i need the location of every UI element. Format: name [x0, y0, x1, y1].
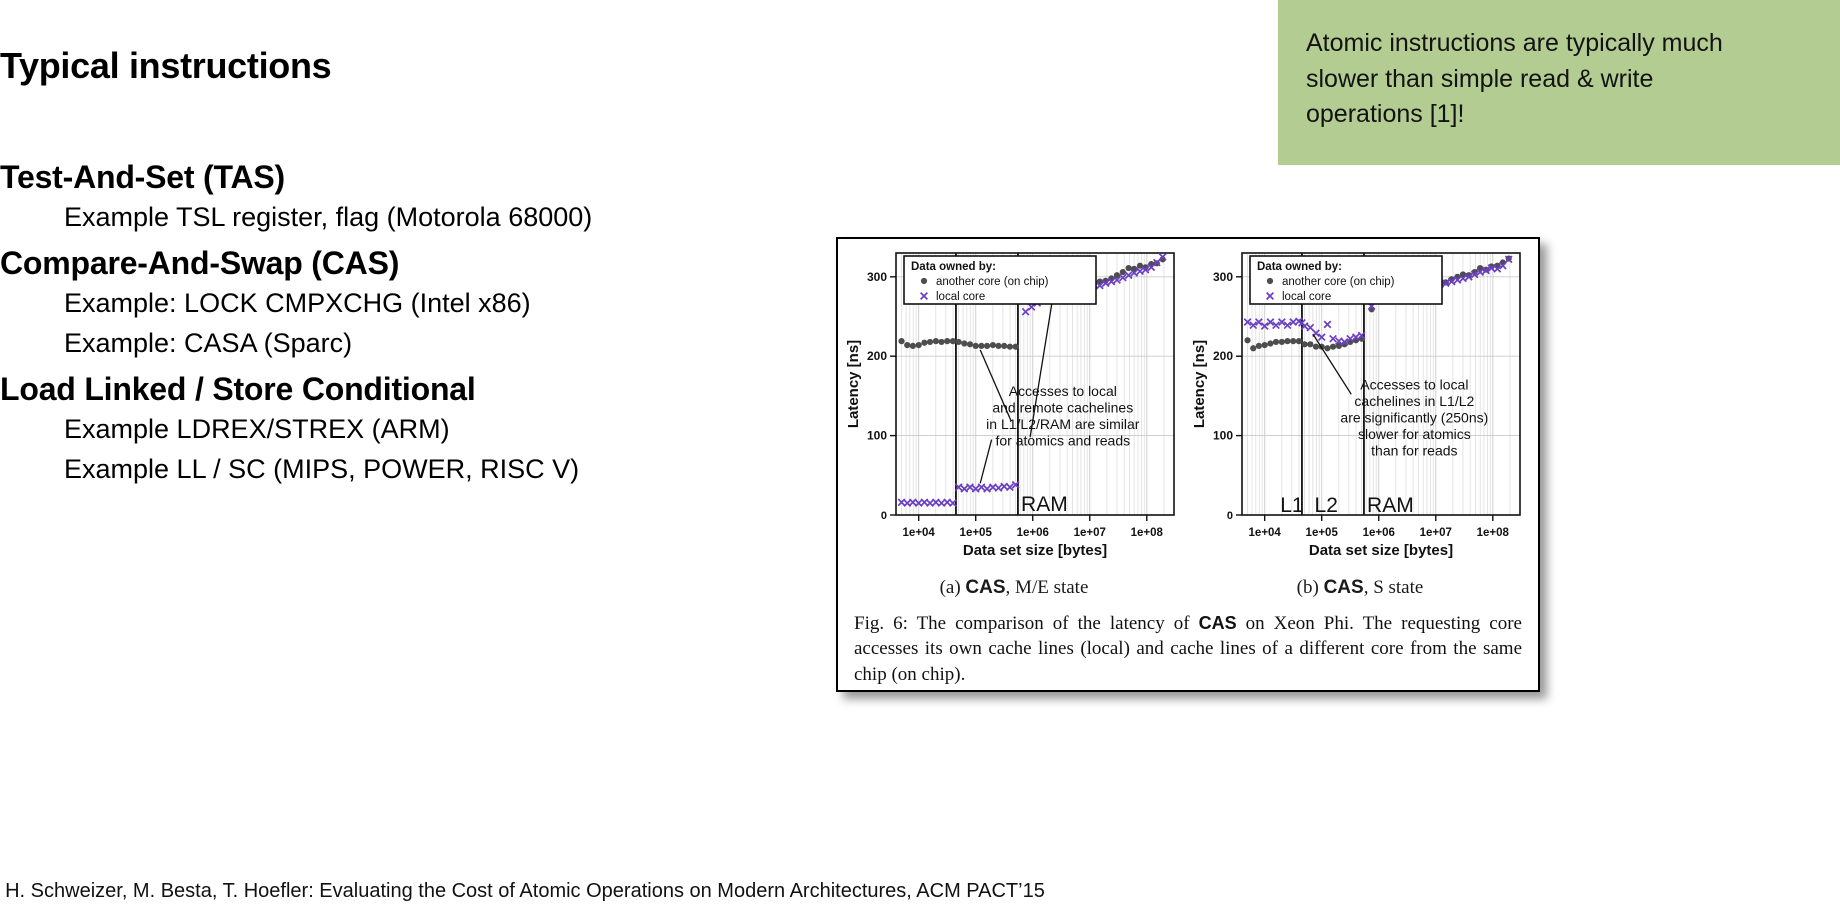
data-point — [1262, 342, 1268, 348]
bullet-subitem: Example LDREX/STREX (ARM) — [0, 414, 820, 444]
bullet-subitem: Example TSL register, flag (Motorola 680… — [0, 202, 820, 232]
x-tick-label: 1e+08 — [1131, 527, 1164, 539]
y-tick-label: 200 — [1213, 349, 1233, 363]
data-point — [1330, 344, 1336, 350]
y-tick-label: 200 — [867, 349, 887, 363]
citation-footer: : H. Schweizer, M. Besta, T. Hoefler: Ev… — [0, 880, 1494, 903]
data-point — [1013, 344, 1019, 350]
y-axis-label: Latency [ns] — [1191, 340, 1208, 428]
y-tick-label: 300 — [867, 270, 887, 284]
chart-annotation-line: and remote cachelines — [992, 399, 1133, 415]
data-point — [1007, 344, 1013, 350]
y-tick-label: 300 — [1213, 270, 1233, 284]
data-point — [1313, 344, 1319, 350]
chart-annotation-line: slower for atomics — [1358, 426, 1471, 442]
data-point — [1001, 343, 1007, 349]
data-point — [927, 339, 933, 345]
region-label-l2: L2 — [1315, 494, 1338, 517]
data-point — [1267, 340, 1273, 346]
y-tick-label: 0 — [1227, 510, 1233, 522]
region-label-l1: L1 — [1280, 494, 1303, 517]
figure-card: 01002003001e+041e+051e+061e+071e+08Data … — [836, 237, 1540, 692]
slide-canvas: Typical instructions Test-And-Set (TAS)E… — [0, 0, 1840, 914]
chart-annotation-line: than for reads — [1371, 443, 1457, 459]
data-point — [1302, 341, 1308, 347]
data-point — [990, 342, 996, 348]
data-point — [1324, 321, 1331, 328]
x-tick-label: 1e+06 — [1017, 527, 1049, 539]
callout-text: Atomic instructions are typically much s… — [1306, 26, 1736, 133]
bullet-heading: Compare-And-Swap (CAS) — [0, 246, 820, 282]
bullet-heading: Test-And-Set (TAS) — [0, 160, 820, 196]
x-tick-label: 1e+07 — [1420, 527, 1452, 539]
chart-b-cas-s-state: 01002003001e+041e+051e+061e+071e+08Data … — [1190, 247, 1530, 573]
x-tick-label: 1e+07 — [1074, 527, 1106, 539]
chart-annotation-line: in L1/L2/RAM are similar — [986, 416, 1140, 432]
data-point — [1120, 269, 1126, 275]
y-tick-label: 0 — [881, 510, 887, 522]
data-point — [921, 340, 927, 346]
chart-b-subcaption: (b) CAS, S state — [1190, 577, 1530, 599]
data-point — [1273, 339, 1279, 345]
bullet-list: Test-And-Set (TAS)Example TSL register, … — [0, 160, 820, 495]
x-tick-label: 1e+04 — [1249, 527, 1282, 539]
region-label-ram: RAM — [1367, 494, 1414, 517]
data-point — [898, 338, 904, 344]
data-point — [1290, 338, 1296, 344]
data-point — [916, 342, 922, 348]
data-point — [995, 485, 1002, 492]
data-point — [1256, 343, 1262, 349]
data-point — [1296, 338, 1302, 344]
data-point — [944, 338, 950, 344]
figure-caption: Fig. 6: The comparison of the latency of… — [854, 611, 1522, 687]
chart-annotation-line: Accesses to local — [1009, 383, 1117, 399]
x-tick-label: 1e+05 — [960, 527, 993, 539]
data-point — [978, 343, 984, 349]
page-title: Typical instructions — [0, 45, 760, 87]
legend-title: Data owned by: — [911, 261, 996, 273]
data-point — [956, 339, 962, 345]
legend-entry-label: local core — [936, 291, 985, 303]
chart-a-cas-me-state: 01002003001e+041e+051e+061e+071e+08Data … — [844, 247, 1184, 573]
legend-title: Data owned by: — [1257, 261, 1342, 273]
chart-b-svg: 01002003001e+041e+051e+061e+071e+08Data … — [1190, 247, 1530, 573]
x-axis-label: Data set size [bytes] — [963, 542, 1107, 559]
chart-annotation-line: Accesses to local — [1360, 377, 1468, 393]
chart-a-svg: 01002003001e+041e+051e+061e+071e+08Data … — [844, 247, 1184, 573]
data-point — [1307, 341, 1313, 347]
data-point — [938, 339, 944, 345]
region-label-ram: RAM — [1021, 493, 1068, 516]
y-tick-label: 100 — [867, 429, 887, 443]
legend-marker-circle — [1267, 278, 1273, 284]
legend-marker-circle — [921, 278, 927, 284]
data-point — [1244, 337, 1250, 343]
x-tick-label: 1e+05 — [1306, 527, 1339, 539]
data-point — [961, 340, 967, 346]
legend-entry-label: local core — [1282, 291, 1331, 303]
chart-annotation-line: are significantly (250ns) — [1340, 410, 1488, 426]
data-point — [910, 499, 917, 506]
data-point — [978, 484, 985, 491]
data-point — [995, 343, 1001, 349]
data-point — [984, 486, 991, 493]
chart-annotation-line: cachelines in L1/L2 — [1354, 393, 1474, 409]
y-axis-label: Latency [ns] — [845, 340, 862, 428]
data-point — [933, 338, 939, 344]
bullet-heading: Load Linked / Store Conditional — [0, 372, 820, 408]
data-point — [910, 343, 916, 349]
data-point — [1324, 345, 1330, 351]
bullet-subitem: Example: CASA (Sparc) — [0, 328, 820, 358]
bullet-subitem: Example: LOCK CMPXCHG (Intel x86) — [0, 288, 820, 318]
y-tick-label: 100 — [1213, 429, 1233, 443]
bullet-subitem: Example LL / SC (MIPS, POWER, RISC V) — [0, 454, 820, 484]
data-point — [984, 343, 990, 349]
data-point — [967, 341, 973, 347]
data-point — [904, 342, 910, 348]
x-tick-label: 1e+08 — [1477, 527, 1510, 539]
x-tick-label: 1e+04 — [903, 527, 936, 539]
legend-entry-label: another core (on chip) — [1282, 276, 1395, 288]
data-point — [1250, 345, 1256, 351]
data-point — [1137, 263, 1143, 269]
chart-a-subcaption: (a) CAS, M/E state — [844, 577, 1184, 599]
callout-box: Atomic instructions are typically much s… — [1278, 0, 1840, 165]
data-point — [1279, 339, 1285, 345]
x-axis-label: Data set size [bytes] — [1309, 542, 1453, 559]
legend-entry-label: another core (on chip) — [936, 276, 1049, 288]
data-point — [1284, 338, 1290, 344]
data-point — [973, 343, 979, 349]
data-point — [927, 500, 934, 507]
chart-annotation-line: for atomics and reads — [995, 432, 1130, 448]
data-point — [950, 338, 956, 344]
x-tick-label: 1e+06 — [1363, 527, 1395, 539]
